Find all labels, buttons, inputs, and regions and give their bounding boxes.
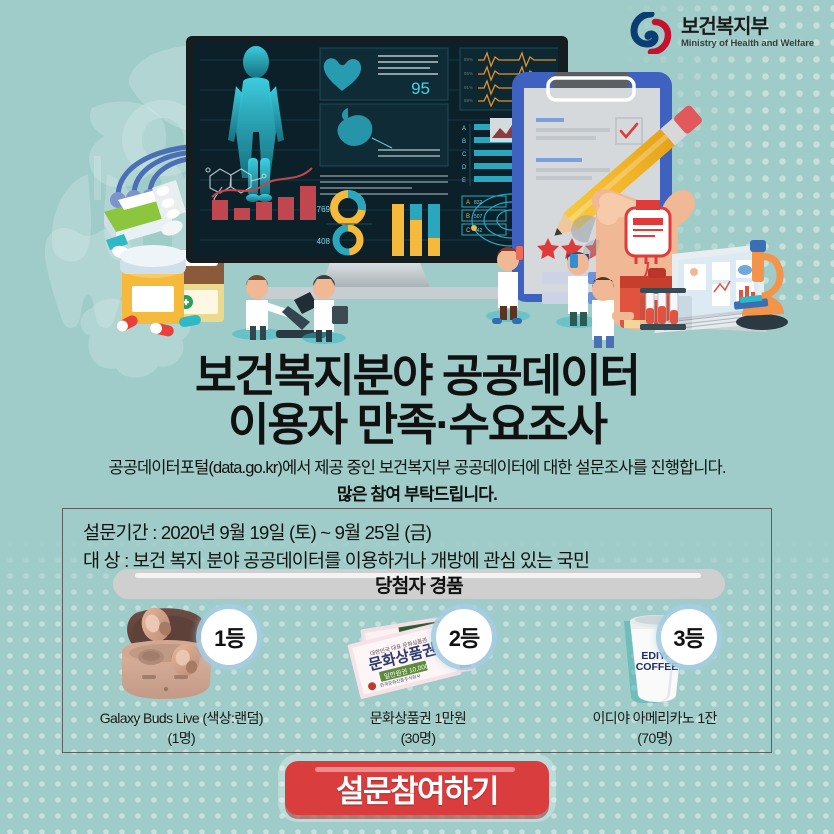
svg-text:408: 408 [317,237,331,246]
ministry-logo-en: Ministry of Health and Welfare [681,39,814,49]
prize-name-first: Galaxy Buds Live (색상:랜덤) [100,709,263,729]
ministry-logo: 보건복지부 Ministry of Health and Welfare [630,12,814,54]
prize-item-second: 대한민국 대표 문화상품권 문화상품권 일만원권 10,000 한국문화진흥주식… [300,607,537,749]
survey-participate-button[interactable]: 설문참여하기 [285,761,549,815]
ministry-logo-ko: 보건복지부 [681,17,814,38]
heart-panel: 95 [320,48,448,100]
svg-text:C: C [462,152,467,158]
svg-text:C: C [466,228,471,234]
cup-brand-line2: COFFEE [635,661,678,673]
svg-text:769: 769 [317,205,331,214]
svg-text:95%: 95% [464,71,473,76]
subtitle-line-1: 공공데이터포털(data.go.kr)에서 제공 중인 보건복지부 공공데이터에… [0,456,834,481]
svg-text:442: 442 [474,228,483,234]
prize-rank-badge-second: 2등 [436,609,492,665]
prize-item-third: EDIYA COFFEE 3등 이디야 아메리카노 1잔 (70명) [536,607,773,749]
taegeuk-swirl-icon [630,12,672,54]
subtitle: 공공데이터포털(data.go.kr)에서 제공 중인 보건복지부 공공데이터에… [0,456,834,508]
svg-text:B: B [466,214,470,220]
subtitle-line-2: 많은 참여 부탁드립니다. [0,481,834,508]
headline-line-1: 보건복지분야 공공데이터 [0,352,834,401]
svg-text:832: 832 [474,200,483,206]
prize-caption-third: 이디야 아메리카노 1잔 (70명) [593,709,717,749]
svg-text:507: 507 [474,214,483,220]
prize-caption-first: Galaxy Buds Live (색상:랜덤) (1명) [100,709,263,749]
prize-rank-badge-first: 1등 [201,609,257,665]
svg-text:91%: 91% [464,85,473,90]
prize-art-first: 1등 [101,607,261,703]
svg-text:D: D [462,165,467,171]
prize-art-second: 대한민국 대표 문화상품권 문화상품권 일만원권 10,000 한국문화진흥주식… [338,607,498,703]
svg-text:89%: 89% [464,57,473,62]
prize-banner-label: 당첨자 경품 [375,571,463,598]
svg-text:E: E [462,178,466,184]
prize-art-third: EDIYA COFFEE 3등 [575,607,735,703]
prize-list: 1등 Galaxy Buds Live (색상:랜덤) (1명) [63,607,773,749]
stomach-panel [320,104,448,166]
survey-period-row: 설문기간 : 2020년 9월 19일 (토) ~ 9월 25일 (금) [83,519,771,547]
prize-caption-second: 문화상품권 1만원 (30명) [370,709,466,749]
svg-text:B: B [462,139,466,145]
survey-info-box: 설문기간 : 2020년 9월 19일 (토) ~ 9월 25일 (금) 대 상… [62,508,772,753]
prize-item-first: 1등 Galaxy Buds Live (색상:랜덤) (1명) [63,607,300,749]
prize-rank-badge-third: 3등 [661,609,717,665]
prize-name-third: 이디야 아메리카노 1잔 [593,709,717,729]
survey-participate-label: 설문참여하기 [336,766,498,811]
prize-count-first: (1명) [100,729,263,749]
prize-name-second: 문화상품권 1만원 [370,709,466,729]
scientist-left [232,275,326,340]
prize-count-second: (30명) [370,729,466,749]
page-title: 보건복지분야 공공데이터 이용자 만족·수요조사 [0,352,834,449]
promo-poster: 95 [0,0,834,834]
vertical-bar-group [392,204,440,256]
prize-count-third: (70명) [593,729,717,749]
svg-text:A: A [462,126,466,132]
svg-text:88%: 88% [464,98,473,103]
svg-text:95: 95 [411,79,430,98]
survey-info-lines: 설문기간 : 2020년 9월 19일 (토) ~ 9월 25일 (금) 대 상… [63,509,771,575]
headline-line-2: 이용자 만족·수요조사 [0,401,834,450]
prize-banner: 당첨자 경품 [113,569,725,599]
svg-text:A: A [466,200,470,206]
